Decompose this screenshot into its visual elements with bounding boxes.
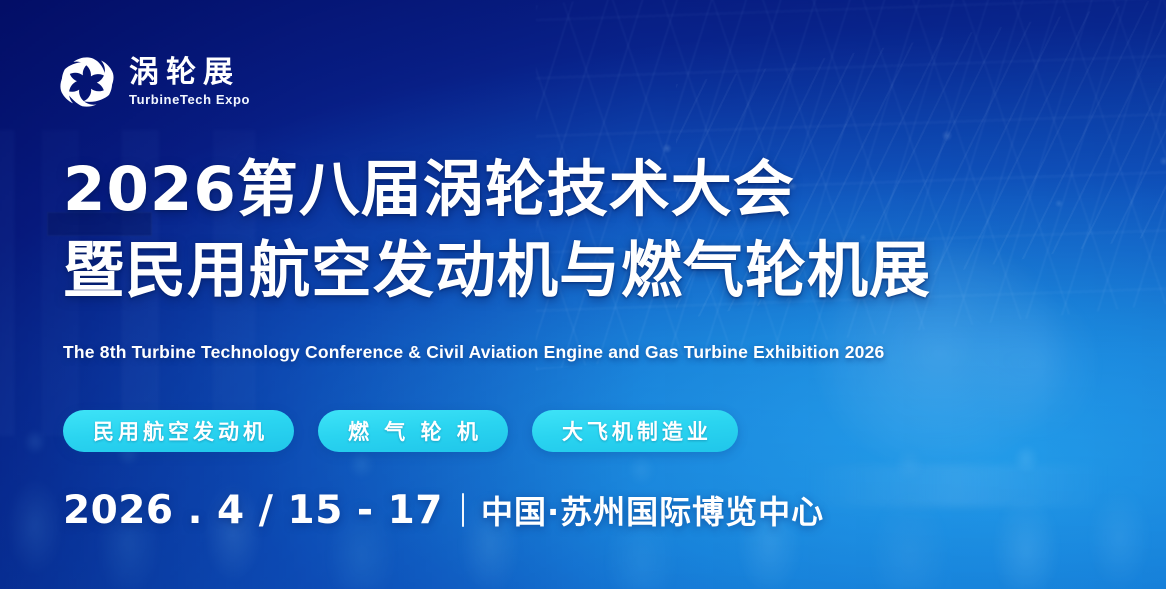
topic-pill-large-aircraft-manufacturing[interactable]: 大飞机制造业: [532, 410, 738, 452]
topic-pill-civil-aviation-engine[interactable]: 民用航空发动机: [63, 410, 294, 452]
event-venue: 中国·苏州国际博览中心: [481, 487, 824, 533]
event-date: 2026 . 4 / 15 - 17: [63, 488, 443, 533]
headline-subtitle-en: The 8th Turbine Technology Conference & …: [63, 342, 884, 363]
headline-line-2: 暨民用航空发动机与燃气轮机展: [63, 231, 1153, 312]
turbine-swirl-icon: [59, 54, 115, 110]
topic-pill-gas-turbine[interactable]: 燃 气 轮 机: [318, 410, 508, 452]
brand-name-en: TurbineTech Expo: [129, 92, 250, 107]
topic-pill-row: 民用航空发动机 燃 气 轮 机 大飞机制造业: [63, 410, 738, 452]
brand-logo-text: 涡轮展 TurbineTech Expo: [129, 57, 250, 107]
topic-pill-label: 民用航空发动机: [89, 416, 268, 446]
brand-name-cn: 涡轮展: [129, 57, 250, 89]
headline-line-1: 2026第八届涡轮技术大会: [63, 150, 1153, 231]
banner-content: 涡轮展 TurbineTech Expo 2026第八届涡轮技术大会 暨民用航空…: [0, 0, 1166, 589]
brand-logo[interactable]: 涡轮展 TurbineTech Expo: [59, 54, 250, 110]
headline-block: 2026第八届涡轮技术大会 暨民用航空发动机与燃气轮机展: [63, 150, 1153, 311]
topic-pill-label: 大飞机制造业: [558, 416, 712, 446]
event-banner: 涡轮展 TurbineTech Expo 2026第八届涡轮技术大会 暨民用航空…: [0, 0, 1166, 589]
event-details-row: 2026 . 4 / 15 - 17 中国·苏州国际博览中心: [63, 487, 824, 533]
topic-pill-label: 燃 气 轮 机: [344, 416, 482, 446]
vertical-divider: [462, 493, 464, 527]
